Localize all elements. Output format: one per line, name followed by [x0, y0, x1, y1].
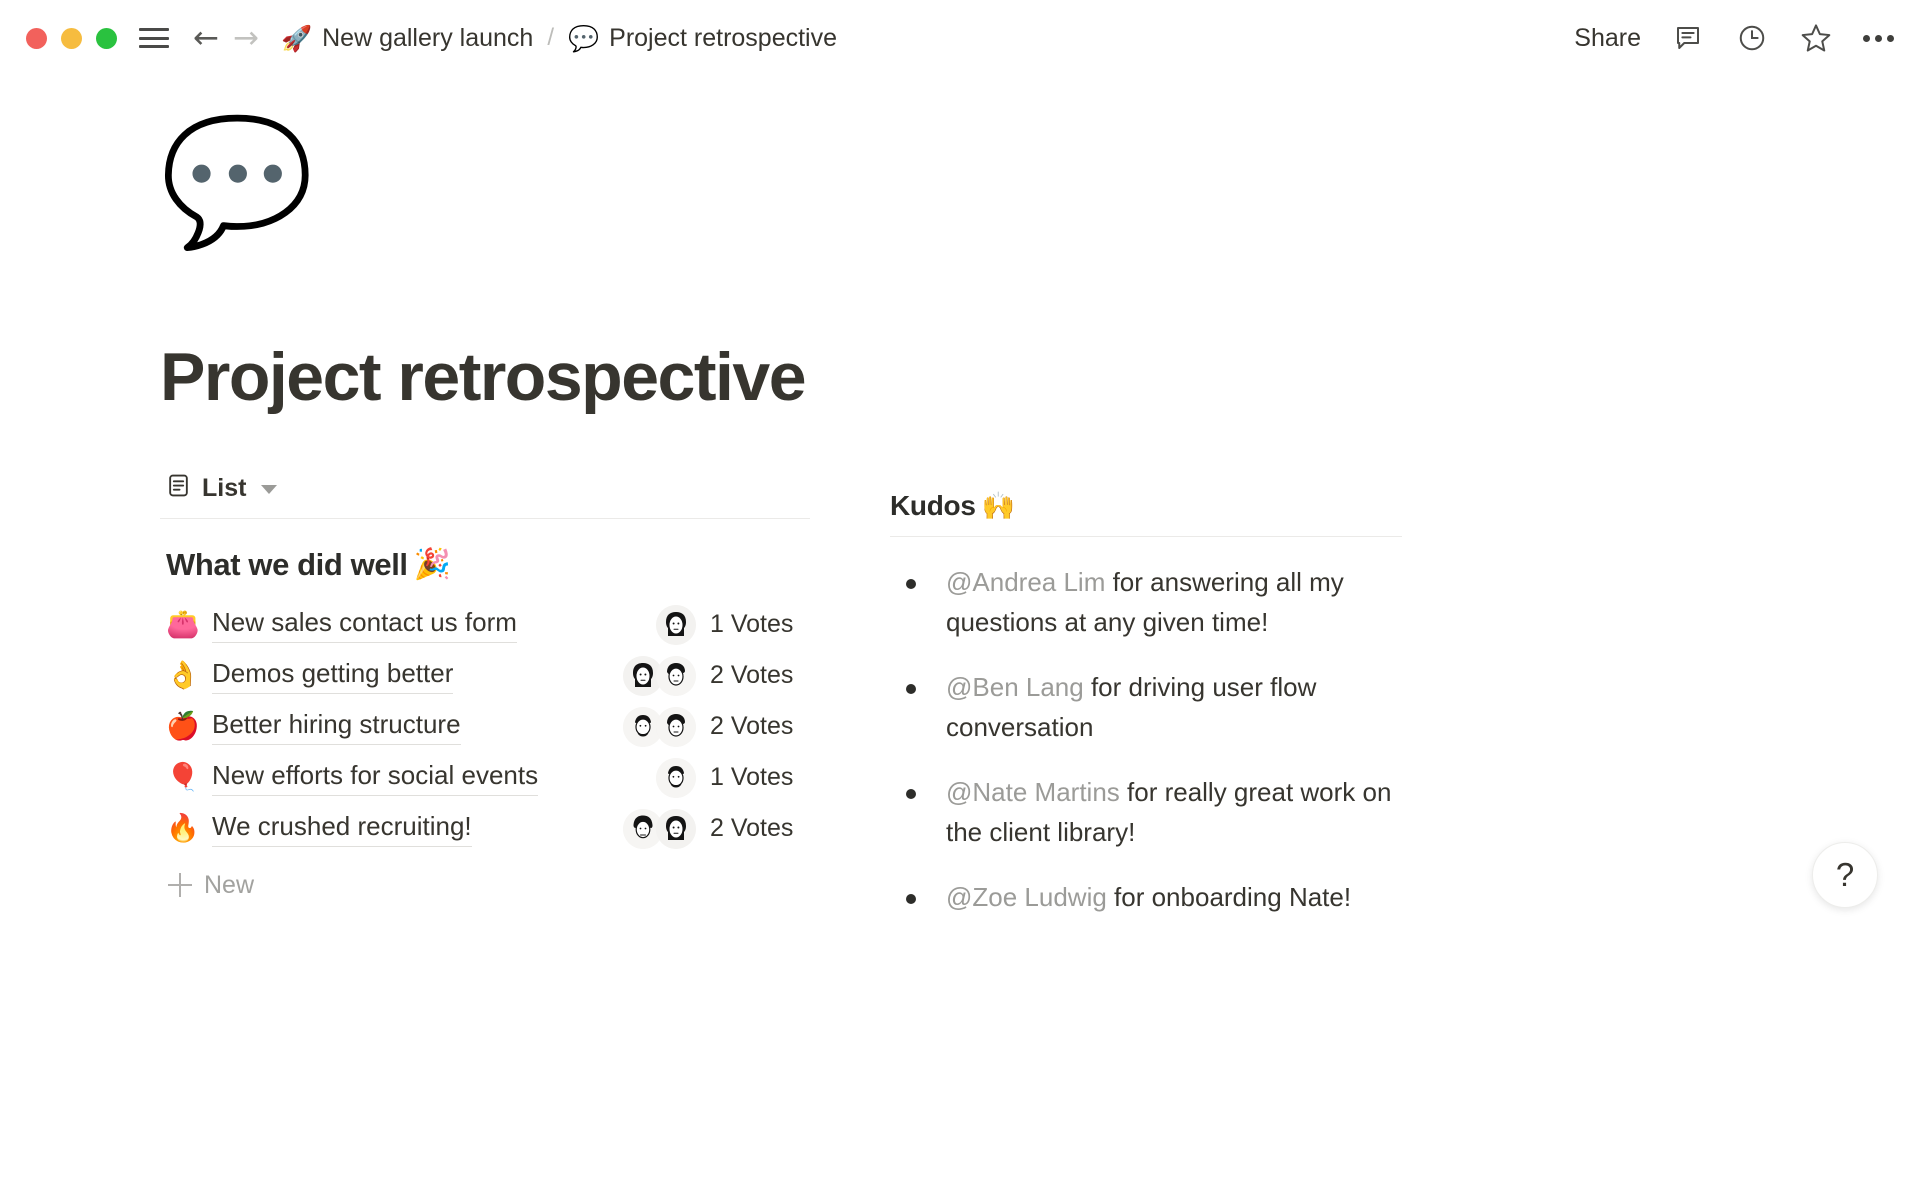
kudos-heading-label: Kudos [890, 490, 976, 522]
breadcrumb: 🚀 New gallery launch / 💬 Project retrosp… [281, 24, 837, 53]
avatar-group[interactable] [610, 758, 696, 798]
plus-icon [168, 873, 192, 897]
avatar[interactable] [656, 656, 696, 696]
back-arrow-icon[interactable]: ← [193, 23, 219, 54]
avatar[interactable] [656, 707, 696, 747]
add-new-item-label: New [204, 871, 254, 900]
kudos-text: @Ben Lang for driving user flow conversa… [946, 668, 1402, 747]
apple-icon: 🍎 [166, 713, 212, 740]
bullet-icon [906, 579, 916, 589]
kudos-column: Kudos 🙌 @Andrea Lim for answering all my… [890, 472, 1402, 944]
balloon-icon: 🎈 [166, 764, 212, 791]
speech-balloon-icon: 💬 [568, 26, 599, 51]
sidebar-toggle-icon[interactable] [139, 26, 169, 50]
list-item-title[interactable]: Demos getting better [212, 658, 453, 694]
list-item-title[interactable]: Better hiring structure [212, 709, 461, 745]
view-selector[interactable]: List [160, 472, 810, 504]
bullet-icon [906, 894, 916, 904]
add-new-item-button[interactable]: New [160, 860, 810, 910]
window-titlebar: ← → 🚀 New gallery launch / 💬 Project ret… [0, 0, 1920, 76]
purse-icon: 👛 [166, 611, 212, 638]
breadcrumb-current-label: Project retrospective [609, 24, 837, 53]
close-window-button[interactable] [26, 28, 47, 49]
list-item[interactable]: 👛 New sales contact us form 1 Votes [160, 599, 810, 650]
kudos-list: @Andrea Lim for answering all my questio… [890, 563, 1402, 918]
list-item[interactable]: @Nate Martins for really great work on t… [890, 773, 1402, 852]
list-item[interactable]: 🍎 Better hiring structure 2 Votes [160, 701, 810, 752]
chevron-down-icon[interactable] [261, 485, 277, 494]
user-mention[interactable]: @Zoe Ludwig [946, 882, 1107, 912]
list-section-heading-label: What we did well [166, 547, 408, 583]
avatar-group[interactable] [610, 707, 696, 747]
votes-count-label: 2 Votes [710, 661, 793, 690]
user-mention[interactable]: @Ben Lang [946, 672, 1084, 702]
list-item[interactable]: @Andrea Lim for answering all my questio… [890, 563, 1402, 642]
avatar[interactable] [656, 605, 696, 645]
user-mention[interactable]: @Andrea Lim [946, 567, 1105, 597]
kudos-body: for onboarding Nate! [1107, 882, 1351, 912]
votes-count-label: 1 Votes [710, 610, 793, 639]
list-item-votes: 2 Votes [610, 809, 810, 849]
navigation-arrows: ← → [193, 23, 259, 54]
avatar-group[interactable] [610, 809, 696, 849]
list-item-votes: 2 Votes [610, 656, 810, 696]
list-item-votes: 1 Votes [610, 758, 810, 798]
bullet-icon [906, 684, 916, 694]
kudos-text: @Zoe Ludwig for onboarding Nate! [946, 878, 1351, 918]
history-clock-icon[interactable] [1735, 21, 1769, 55]
maximize-window-button[interactable] [96, 28, 117, 49]
traffic-lights [26, 28, 117, 49]
list-column: List What we did well 🎉 👛 New sales cont… [160, 472, 810, 944]
avatar[interactable] [656, 809, 696, 849]
page-content: 💬 Project retrospective List What [0, 76, 1920, 944]
avatar-group[interactable] [610, 605, 696, 645]
list-item-title[interactable]: New efforts for social events [212, 760, 538, 796]
votes-count-label: 2 Votes [710, 814, 793, 843]
list-section-heading[interactable]: What we did well 🎉 [160, 547, 810, 583]
raised-hands-icon: 🙌 [982, 493, 1015, 520]
topbar-actions: Share [1574, 0, 1894, 76]
comment-icon[interactable] [1671, 21, 1705, 55]
kudos-divider [890, 536, 1402, 537]
list-item-votes: 1 Votes [610, 605, 810, 645]
kudos-heading[interactable]: Kudos 🙌 [890, 490, 1402, 522]
list-item[interactable]: @Ben Lang for driving user flow conversa… [890, 668, 1402, 747]
list-item-title[interactable]: We crushed recruiting! [212, 811, 472, 847]
bullet-icon [906, 789, 916, 799]
ok-hand-icon: 👌 [166, 662, 212, 689]
share-button[interactable]: Share [1574, 24, 1641, 53]
avatar[interactable] [656, 758, 696, 798]
list-divider [160, 518, 810, 519]
votes-count-label: 2 Votes [710, 712, 793, 741]
breadcrumb-item-current[interactable]: 💬 Project retrospective [568, 24, 837, 53]
star-icon[interactable] [1799, 21, 1833, 55]
list-item-votes: 2 Votes [610, 707, 810, 747]
minimize-window-button[interactable] [61, 28, 82, 49]
page-icon[interactable]: 💬 [160, 120, 1920, 270]
fire-icon: 🔥 [166, 815, 212, 842]
list-item[interactable]: 👌 Demos getting better 2 Votes [160, 650, 810, 701]
list-item[interactable]: @Zoe Ludwig for onboarding Nate! [890, 878, 1402, 918]
list-item-title[interactable]: New sales contact us form [212, 607, 517, 643]
list-view-icon [166, 473, 191, 503]
party-popper-icon: 🎉 [414, 550, 451, 580]
avatar-group[interactable] [610, 656, 696, 696]
kudos-text: @Nate Martins for really great work on t… [946, 773, 1402, 852]
kudos-text: @Andrea Lim for answering all my questio… [946, 563, 1402, 642]
breadcrumb-parent-label: New gallery launch [322, 24, 533, 53]
list-item[interactable]: 🎈 New efforts for social events 1 Votes [160, 752, 810, 803]
help-button[interactable]: ? [1812, 842, 1878, 908]
rocket-icon: 🚀 [281, 26, 312, 51]
more-options-icon[interactable] [1863, 35, 1894, 42]
page-title[interactable]: Project retrospective [160, 338, 1920, 416]
breadcrumb-item-parent[interactable]: 🚀 New gallery launch [281, 24, 533, 53]
view-selector-label: List [202, 474, 246, 503]
list-item[interactable]: 🔥 We crushed recruiting! 2 Votes [160, 803, 810, 854]
votes-count-label: 1 Votes [710, 763, 793, 792]
breadcrumb-separator: / [547, 24, 554, 52]
user-mention[interactable]: @Nate Martins [946, 777, 1120, 807]
content-columns: List What we did well 🎉 👛 New sales cont… [160, 472, 1920, 944]
forward-arrow-icon[interactable]: → [233, 23, 259, 54]
